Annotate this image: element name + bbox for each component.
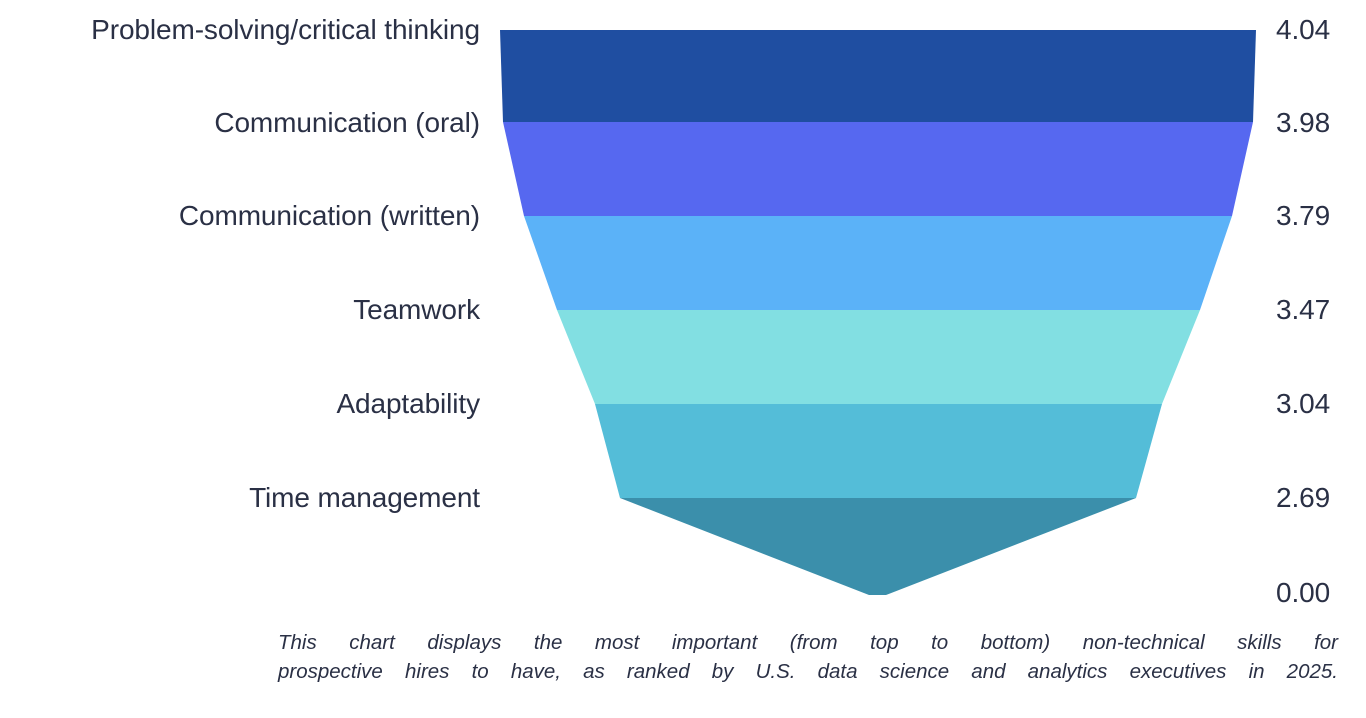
caption-line-2: prospective hires to have, as ranked by … [278, 657, 1338, 686]
category-label-teamwork: Teamwork [353, 296, 480, 324]
funnel-band-3[interactable] [524, 216, 1232, 310]
funnel-band-2[interactable] [503, 122, 1253, 216]
value-label-6: 2.69 [1276, 484, 1330, 512]
funnel-band-1[interactable] [500, 30, 1256, 122]
caption-line-1: This chart displays the most important (… [278, 628, 1338, 657]
category-label-time-management: Time management [249, 484, 480, 512]
value-label-1: 4.04 [1276, 16, 1330, 44]
chart-caption: This chart displays the most important (… [278, 628, 1338, 686]
value-label-apex: 0.00 [1276, 579, 1330, 607]
value-label-4: 3.47 [1276, 296, 1330, 324]
value-label-2: 3.98 [1276, 109, 1330, 137]
funnel-chart: Problem-solving/critical thinking Commun… [0, 0, 1366, 718]
category-label-communication-written: Communication (written) [179, 202, 480, 230]
funnel-graphic [0, 0, 1366, 718]
value-label-3: 3.79 [1276, 202, 1330, 230]
value-label-5: 3.04 [1276, 390, 1330, 418]
funnel-band-5[interactable] [595, 404, 1162, 498]
funnel-band-6[interactable] [620, 498, 1136, 595]
funnel-band-4[interactable] [557, 310, 1200, 404]
category-label-problem-solving: Problem-solving/critical thinking [91, 16, 480, 44]
category-label-communication-oral: Communication (oral) [214, 109, 480, 137]
category-label-adaptability: Adaptability [336, 390, 480, 418]
